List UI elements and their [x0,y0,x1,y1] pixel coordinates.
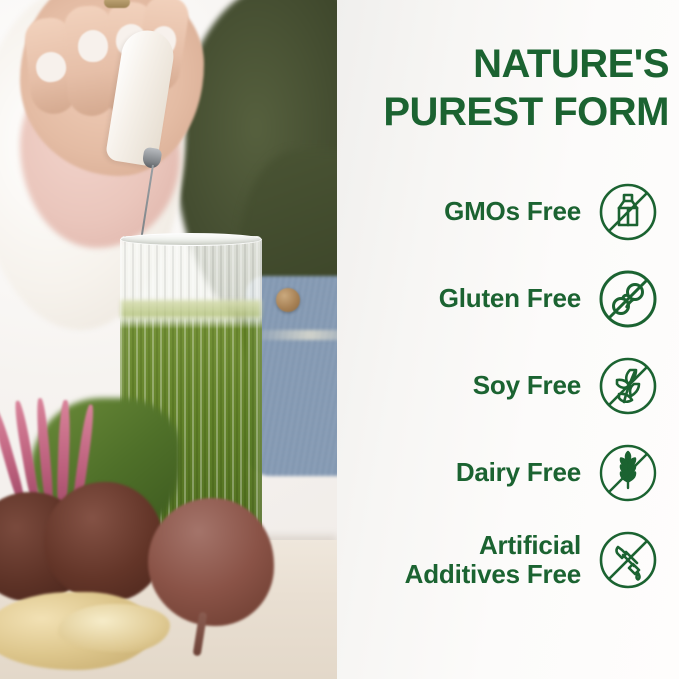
beetroot [148,498,274,626]
no-milk-carton-icon [595,179,661,245]
page-title: NATURE'S PUREST FORM [337,40,669,136]
claim-label: Dairy Free [456,458,581,487]
claims-list: GMOs Free Gluten Free [337,168,679,603]
juice-foam [121,300,261,318]
denim-seam [250,330,337,340]
claim-label: Soy Free [473,371,581,400]
claims-panel: NATURE'S PUREST FORM GMOs Free [337,0,679,679]
claim-row-soy-free: Soy Free [337,342,679,429]
fingernail [78,30,108,62]
beetroot [44,482,164,602]
no-dropper-icon [595,527,661,593]
ring [104,0,130,8]
claim-label-line1: Artificial [479,530,581,560]
glass-rim [120,233,262,246]
ginger-root [58,604,170,652]
product-infographic: NATURE'S PUREST FORM GMOs Free [0,0,679,679]
claim-label: Gluten Free [439,284,581,313]
claim-row-artificial-additives-free: Artificial Additives Free [337,516,679,603]
no-soy-plant-icon [595,353,661,419]
denim-button [276,288,300,312]
claim-label: GMOs Free [444,197,581,226]
page-title-line1: NATURE'S [473,42,669,86]
page-title-line2: PUREST FORM [337,88,669,136]
claim-label-line2: Additives Free [405,560,581,589]
product-photo [0,0,337,679]
no-wheat-stalk-icon [595,440,661,506]
no-peanut-icon [595,266,661,332]
claim-row-gmos-free: GMOs Free [337,168,679,255]
claim-label: Artificial Additives Free [405,531,581,589]
claim-row-dairy-free: Dairy Free [337,429,679,516]
claim-row-gluten-free: Gluten Free [337,255,679,342]
